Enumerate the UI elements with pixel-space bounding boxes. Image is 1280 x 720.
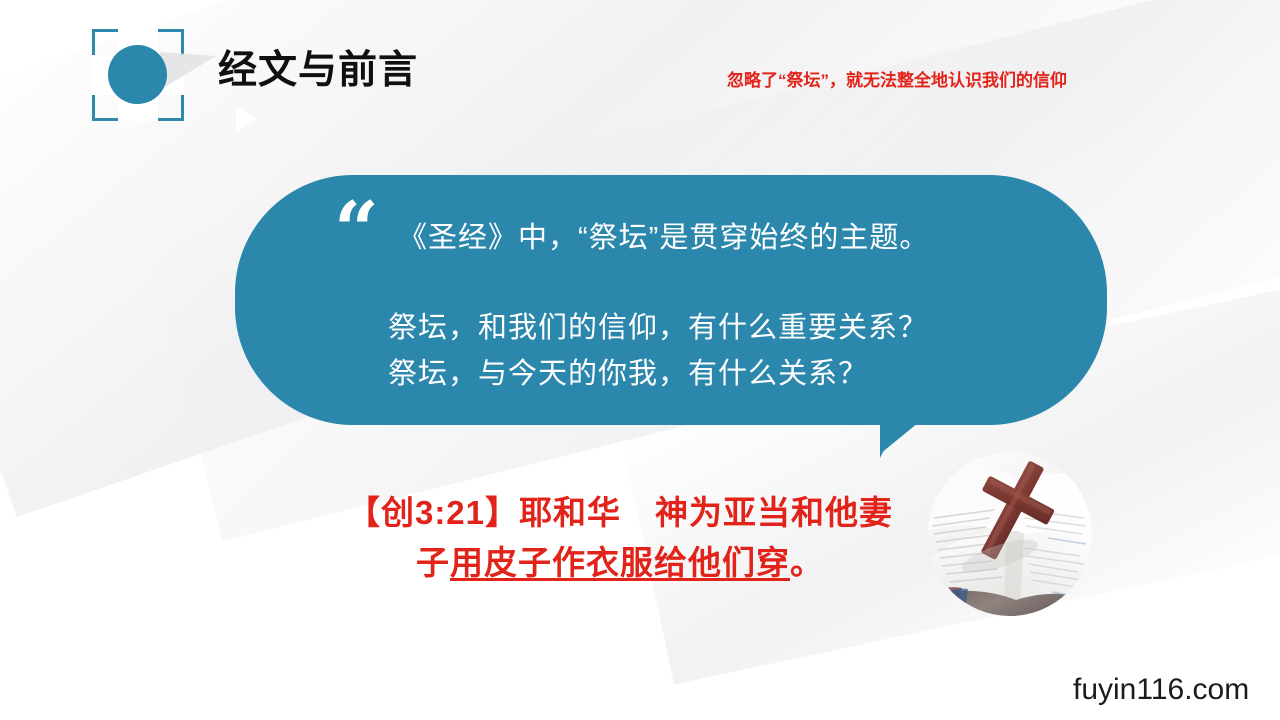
- quote-mark-icon: “: [334, 192, 379, 270]
- play-button-icon: [108, 45, 167, 104]
- slide-canvas: 经文与前言 忽略了“祭坛”，就无法整全地认识我们的信仰 “ 《圣经》中，“祭坛”…: [0, 0, 1280, 720]
- cross-bible-illustration: [928, 452, 1092, 616]
- quote-line: 《圣经》中，“祭坛”是贯穿始终的主题。: [398, 217, 929, 259]
- cross-bible-photo: [928, 452, 1092, 616]
- scripture-reference: 【创3:21】: [347, 494, 519, 531]
- scripture-text-tail: 。: [790, 544, 824, 581]
- page-title: 经文与前言: [218, 50, 418, 93]
- quote-bubble-tail: [880, 418, 924, 458]
- quote-line: 祭坛，和我们的信仰，有什么重要关系？: [388, 307, 928, 349]
- scripture-verse: 【创3:21】耶和华 神为亚当和他妻子用皮子作衣服给他们穿。: [340, 488, 900, 588]
- play-triangle-icon: [236, 106, 258, 132]
- scripture-text-underlined: 用皮子作衣服给他们穿: [450, 544, 790, 581]
- quote-line: 祭坛，与今天的你我，有什么关系？: [388, 353, 868, 395]
- watermark: fuyin116.com: [1073, 673, 1249, 707]
- header-note: 忽略了“祭坛”，就无法整全地认识我们的信仰: [727, 66, 1067, 91]
